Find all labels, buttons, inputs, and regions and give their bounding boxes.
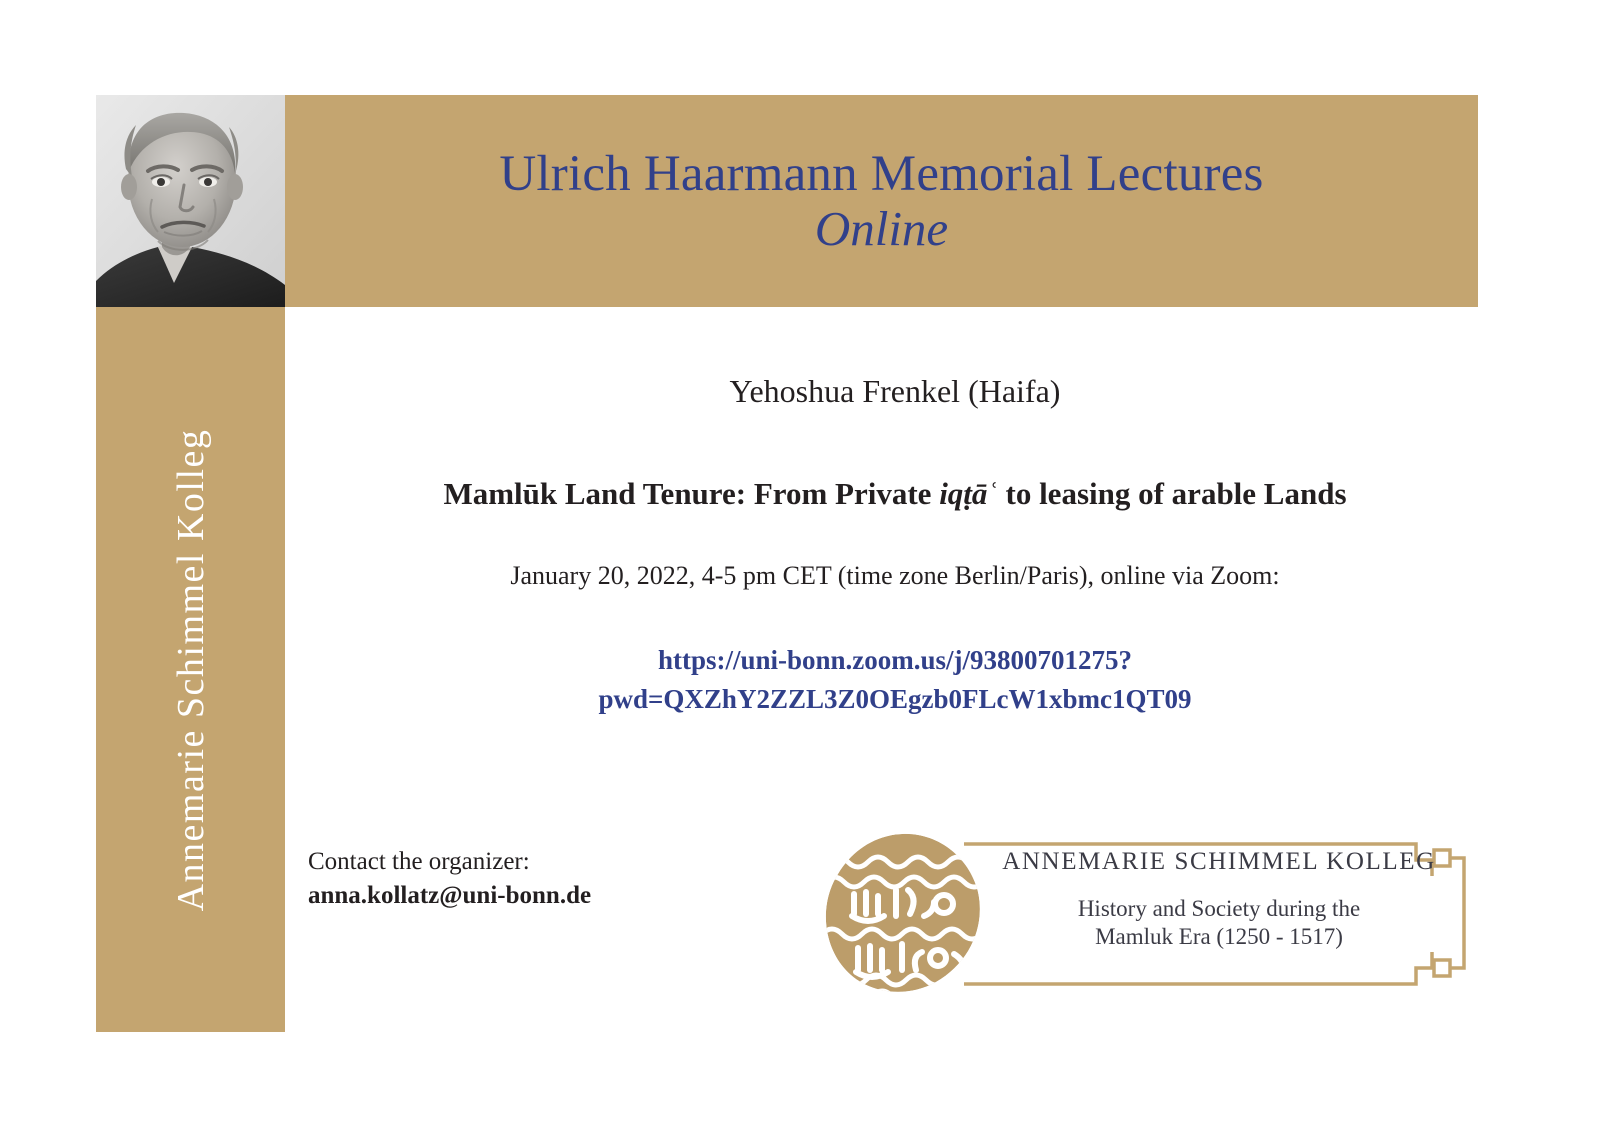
institution-logo: ANNEMARIE SCHIMMEL KOLLEG History and So…	[818, 826, 1478, 1001]
lecture-title: Mamlūk Land Tenure: From Private iqṭāʿ t…	[300, 472, 1490, 517]
sidebar-vertical-label: Annemarie Schimmel Kolleg	[169, 428, 213, 911]
zoom-link-line-2[interactable]: pwd=QXZhY2ZZL3Z0OEgzb0FLcW1xbmc1QT09	[300, 680, 1490, 719]
lecture-title-part2: to leasing of arable Lands	[998, 476, 1347, 511]
page-subtitle: Online	[815, 203, 948, 256]
lecture-title-transliteration: iqṭāʿ	[939, 476, 998, 511]
logo-tagline-line-1: History and Society during the	[988, 895, 1450, 923]
logo-tagline: History and Society during the Mamluk Er…	[988, 895, 1450, 951]
coin-icon	[818, 830, 986, 998]
logo-tagline-line-2: Mamluk Era (1250 - 1517)	[988, 923, 1450, 951]
coin-emblem-graphic	[818, 830, 986, 998]
speaker-name: Yehoshua Frenkel (Haifa)	[300, 372, 1490, 410]
page-title: Ulrich Haarmann Memorial Lectures	[499, 147, 1263, 201]
zoom-link-line-1[interactable]: https://uni-bonn.zoom.us/j/93800701275?	[300, 641, 1490, 680]
zoom-meeting-link[interactable]: https://uni-bonn.zoom.us/j/93800701275? …	[300, 641, 1490, 719]
header-band: Ulrich Haarmann Memorial Lectures Online	[285, 95, 1478, 307]
portrait-image	[96, 95, 285, 307]
main-content: Yehoshua Frenkel (Haifa) Mamlūk Land Ten…	[300, 330, 1490, 719]
lecture-datetime: January 20, 2022, 4-5 pm CET (time zone …	[300, 559, 1490, 593]
contact-label: Contact the organizer:	[308, 845, 591, 879]
sidebar-band: Annemarie Schimmel Kolleg	[96, 307, 285, 1032]
contact-email[interactable]: anna.kollatz@uni-bonn.de	[308, 879, 591, 913]
logo-institution-name: ANNEMARIE SCHIMMEL KOLLEG	[988, 848, 1450, 876]
portrait-photo	[96, 95, 285, 307]
poster-canvas: Ulrich Haarmann Memorial Lectures Online…	[0, 0, 1600, 1128]
contact-block: Contact the organizer: anna.kollatz@uni-…	[308, 845, 591, 912]
lecture-title-part1: Mamlūk Land Tenure: From Private	[443, 476, 939, 511]
logo-text-block: ANNEMARIE SCHIMMEL KOLLEG History and So…	[988, 848, 1450, 951]
